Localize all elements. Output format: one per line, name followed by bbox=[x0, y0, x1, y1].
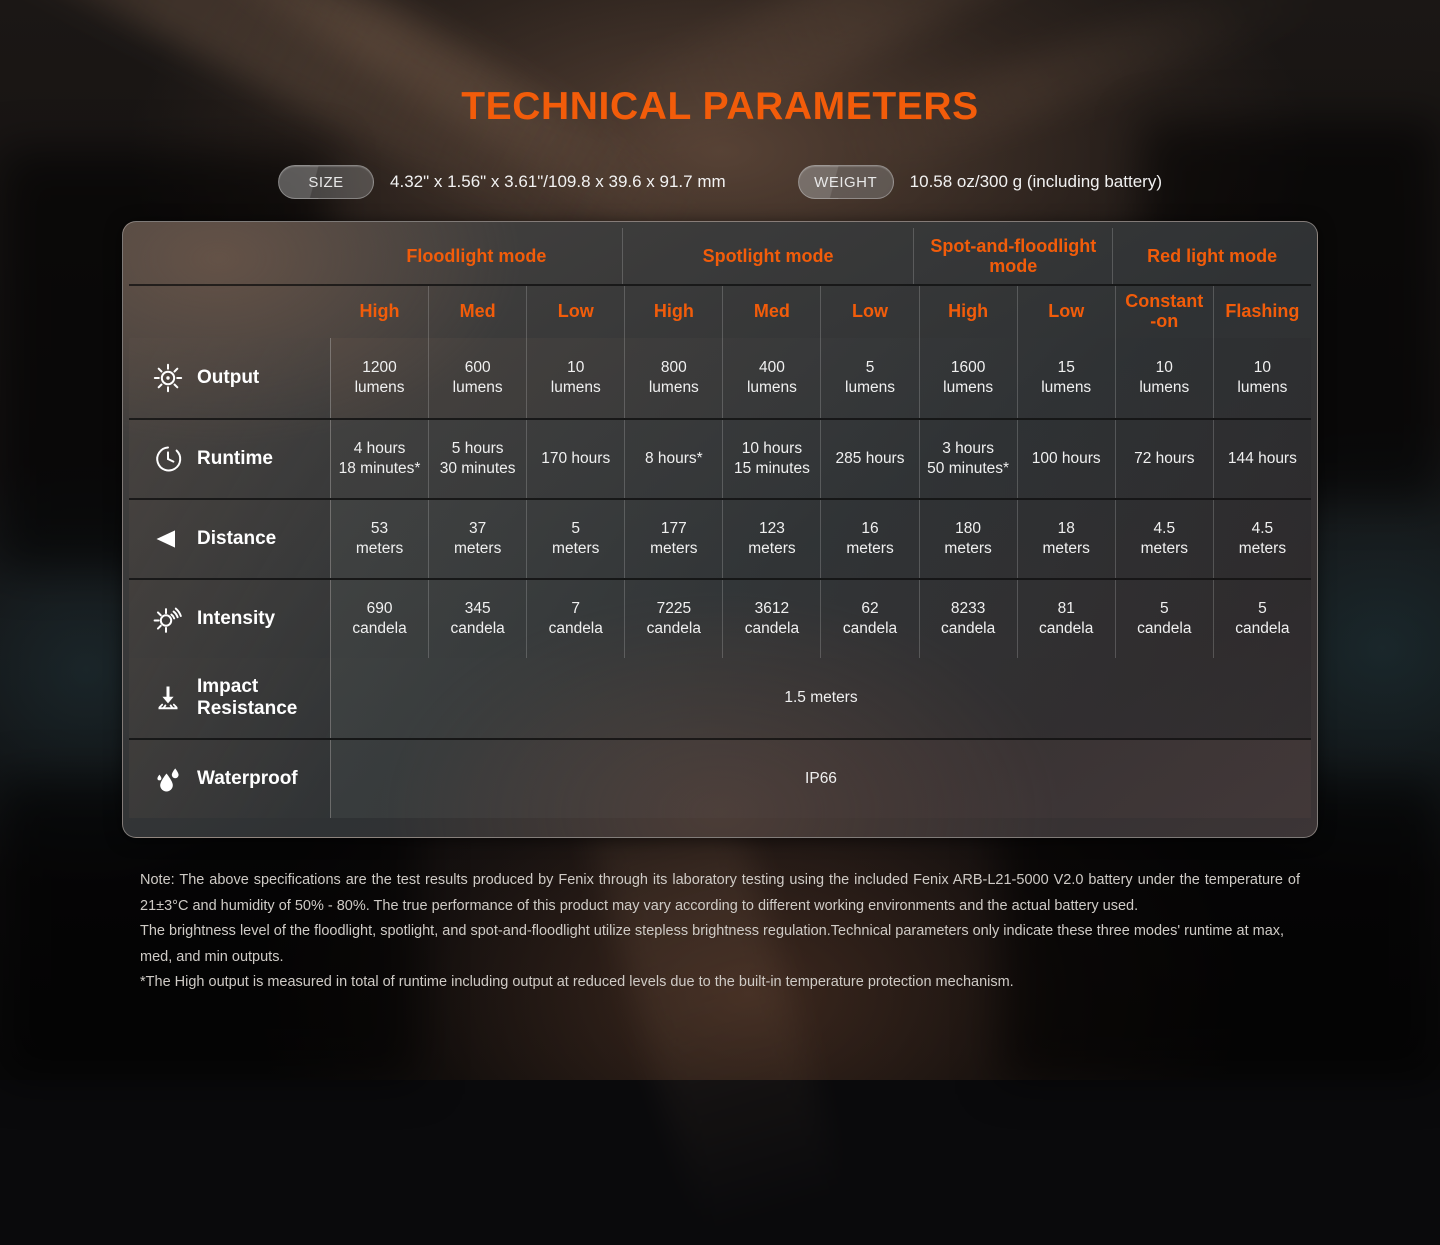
data-rows: Output1200lumens600lumens10lumens800lume… bbox=[129, 338, 1311, 658]
cell-value: 8233 bbox=[951, 599, 985, 619]
cell-value: 1600 bbox=[951, 358, 985, 378]
cell-unit: 15 minutes bbox=[734, 459, 810, 479]
cell-value: 10 bbox=[1254, 358, 1271, 378]
weight-badge: WEIGHT bbox=[798, 165, 894, 199]
weight-value: 10.58 oz/300 g (including battery) bbox=[910, 172, 1162, 192]
cell-value: 600 bbox=[465, 358, 491, 378]
cell-runtime-0: 4 hours18 minutes* bbox=[331, 420, 428, 498]
level-header-row: HighMedLowHighMedLowHighLowConstant-onFl… bbox=[129, 284, 1311, 338]
level-header-3: High bbox=[624, 286, 722, 338]
cell-unit: lumens bbox=[845, 378, 895, 398]
cell-unit: candela bbox=[941, 619, 995, 639]
cell-intensity-7: 81candela bbox=[1017, 580, 1115, 658]
notes-block: Note: The above specifications are the t… bbox=[140, 868, 1300, 996]
cell-distance-2: 5meters bbox=[526, 500, 624, 578]
cell-distance-9: 4.5meters bbox=[1213, 500, 1311, 578]
row-label-intensity: Intensity bbox=[129, 580, 331, 658]
page-title: TECHNICAL PARAMETERS bbox=[0, 85, 1440, 129]
cell-unit: 30 minutes bbox=[440, 459, 516, 479]
mode-header-3: Red light mode bbox=[1112, 228, 1311, 284]
cell-value: 400 bbox=[759, 358, 785, 378]
row-label-text: Runtime bbox=[197, 448, 273, 470]
table-row: Runtime4 hours18 minutes*5 hours30 minut… bbox=[129, 418, 1311, 498]
cell-value: 285 hours bbox=[836, 449, 905, 469]
cell-unit: candela bbox=[450, 619, 504, 639]
table-row: WaterproofIP66 bbox=[129, 738, 1311, 818]
cell-runtime-8: 72 hours bbox=[1115, 420, 1213, 498]
cell-value: 180 bbox=[955, 519, 981, 539]
cell-output-6: 1600lumens bbox=[919, 338, 1017, 418]
cell-runtime-5: 285 hours bbox=[820, 420, 918, 498]
row-label-text: Intensity bbox=[197, 608, 275, 630]
cell-distance-5: 16meters bbox=[820, 500, 918, 578]
level-header-8: Constant-on bbox=[1115, 286, 1213, 338]
cell-value: 7 bbox=[571, 599, 580, 619]
cell-unit: meters bbox=[944, 539, 991, 559]
cell-output-0: 1200lumens bbox=[331, 338, 428, 418]
cell-unit: lumens bbox=[1139, 378, 1189, 398]
cell-runtime-6: 3 hours50 minutes* bbox=[919, 420, 1017, 498]
size-value: 4.32" x 1.56" x 3.61"/109.8 x 39.6 x 91.… bbox=[390, 172, 726, 192]
cell-output-7: 15lumens bbox=[1017, 338, 1115, 418]
cell-runtime-2: 170 hours bbox=[526, 420, 624, 498]
cell-unit: lumens bbox=[453, 378, 503, 398]
cell-unit: meters bbox=[748, 539, 795, 559]
table-row: Output1200lumens600lumens10lumens800lume… bbox=[129, 338, 1311, 418]
cell-value: 5 bbox=[1258, 599, 1267, 619]
cell-unit: meters bbox=[356, 539, 403, 559]
cell-output-5: 5lumens bbox=[820, 338, 918, 418]
cell-unit: meters bbox=[552, 539, 599, 559]
row-label-text: Output bbox=[197, 367, 259, 389]
cell-value: 37 bbox=[469, 519, 486, 539]
row-cells: IP66 bbox=[331, 740, 1311, 818]
cell-value: 5 bbox=[866, 358, 875, 378]
cell-value: 3 hours bbox=[942, 439, 994, 459]
cell-value: 16 bbox=[861, 519, 878, 539]
cell-output-8: 10lumens bbox=[1115, 338, 1213, 418]
table-row: ImpactResistance1.5 meters bbox=[129, 658, 1311, 738]
level-header-0: High bbox=[331, 286, 428, 338]
cell-value: 62 bbox=[861, 599, 878, 619]
technical-parameters-table: Floodlight modeSpotlight modeSpot-and-fl… bbox=[122, 221, 1318, 838]
level-header-1: Med bbox=[428, 286, 526, 338]
cell-output-3: 800lumens bbox=[624, 338, 722, 418]
cell-value: 1200 bbox=[362, 358, 396, 378]
cell-unit: candela bbox=[843, 619, 897, 639]
row-label-text: ImpactResistance bbox=[197, 676, 297, 721]
beam-icon bbox=[151, 522, 185, 556]
cell-unit: lumens bbox=[551, 378, 601, 398]
cell-value: 123 bbox=[759, 519, 785, 539]
cell-runtime-4: 10 hours15 minutes bbox=[722, 420, 820, 498]
cell-value: 10 bbox=[1156, 358, 1173, 378]
note-paragraph-2: *The High output is measured in total of… bbox=[140, 970, 1300, 996]
row-cells: 53meters37meters5meters177meters123meter… bbox=[331, 500, 1311, 578]
cell-unit: lumens bbox=[355, 378, 405, 398]
cell-value: 345 bbox=[465, 599, 491, 619]
cell-intensity-6: 8233candela bbox=[919, 580, 1017, 658]
cell-unit: candela bbox=[352, 619, 406, 639]
cell-distance-6: 180meters bbox=[919, 500, 1017, 578]
cell-intensity-1: 345candela bbox=[428, 580, 526, 658]
cell-unit: meters bbox=[454, 539, 501, 559]
row-cells: 690candela345candela7candela7225candela3… bbox=[331, 580, 1311, 658]
cell-value: 4.5 bbox=[1252, 519, 1274, 539]
table-row: Intensity690candela345candela7candela722… bbox=[129, 578, 1311, 658]
level-header-4: Med bbox=[722, 286, 820, 338]
cell-value: 4.5 bbox=[1154, 519, 1176, 539]
note-paragraph-1: The brightness level of the floodlight, … bbox=[140, 919, 1300, 970]
weight-group: WEIGHT 10.58 oz/300 g (including battery… bbox=[798, 165, 1162, 199]
row-label-impact-resistance: ImpactResistance bbox=[129, 658, 331, 738]
level-header-9: Flashing bbox=[1213, 286, 1311, 338]
cell-unit: candela bbox=[1137, 619, 1191, 639]
cell-unit: lumens bbox=[649, 378, 699, 398]
cell-intensity-8: 5candela bbox=[1115, 580, 1213, 658]
cell-distance-3: 177meters bbox=[624, 500, 722, 578]
cell-unit: meters bbox=[846, 539, 893, 559]
cell-unit: candela bbox=[549, 619, 603, 639]
cell-unit: lumens bbox=[943, 378, 993, 398]
cell-runtime-7: 100 hours bbox=[1017, 420, 1115, 498]
waterdrop-icon bbox=[151, 762, 185, 796]
cell-unit: meters bbox=[1239, 539, 1286, 559]
cell-unit: meters bbox=[1043, 539, 1090, 559]
row-label-text: Waterproof bbox=[197, 768, 298, 790]
cell-unit: 50 minutes* bbox=[927, 459, 1009, 479]
cell-distance-0: 53meters bbox=[331, 500, 428, 578]
cell-runtime-3: 8 hours* bbox=[624, 420, 722, 498]
cell-value: 170 hours bbox=[541, 449, 610, 469]
cell-distance-7: 18meters bbox=[1017, 500, 1115, 578]
cell-unit: meters bbox=[1141, 539, 1188, 559]
intensity-icon bbox=[151, 602, 185, 636]
cell-intensity-0: 690candela bbox=[331, 580, 428, 658]
mode-header-2: Spot-and-floodlight mode bbox=[913, 228, 1112, 284]
level-header-cells: HighMedLowHighMedLowHighLowConstant-onFl… bbox=[331, 286, 1311, 338]
cell-output-1: 600lumens bbox=[428, 338, 526, 418]
row-cells: 1.5 meters bbox=[331, 658, 1311, 738]
cell-value: 53 bbox=[371, 519, 388, 539]
cell-value: 81 bbox=[1058, 599, 1075, 619]
cell-unit: lumens bbox=[1041, 378, 1091, 398]
cell-impact-resistance-value: 1.5 meters bbox=[331, 658, 1311, 738]
cell-intensity-2: 7candela bbox=[526, 580, 624, 658]
table-row: Distance53meters37meters5meters177meters… bbox=[129, 498, 1311, 578]
cell-intensity-9: 5candela bbox=[1213, 580, 1311, 658]
cell-unit: candela bbox=[1235, 619, 1289, 639]
mode-header-1: Spotlight mode bbox=[622, 228, 914, 284]
cell-value: 15 bbox=[1058, 358, 1075, 378]
cell-runtime-1: 5 hours30 minutes bbox=[428, 420, 526, 498]
cell-unit: candela bbox=[647, 619, 701, 639]
cell-distance-4: 123meters bbox=[722, 500, 820, 578]
note-paragraph-0: Note: The above specifications are the t… bbox=[140, 868, 1300, 919]
row-label-distance: Distance bbox=[129, 500, 331, 578]
spec-summary: SIZE 4.32" x 1.56" x 3.61"/109.8 x 39.6 … bbox=[0, 165, 1440, 199]
cell-unit: meters bbox=[650, 539, 697, 559]
cell-value: 4 hours bbox=[354, 439, 406, 459]
cell-value: 7225 bbox=[657, 599, 691, 619]
impact-icon bbox=[151, 681, 185, 715]
cell-value: 800 bbox=[661, 358, 687, 378]
cell-value: 177 bbox=[661, 519, 687, 539]
cell-value: 18 bbox=[1058, 519, 1075, 539]
cell-value: 10 bbox=[567, 358, 584, 378]
cell-unit: lumens bbox=[747, 378, 797, 398]
row-label-runtime: Runtime bbox=[129, 420, 331, 498]
cell-output-9: 10lumens bbox=[1213, 338, 1311, 418]
level-header-7: Low bbox=[1017, 286, 1115, 338]
row-label-waterproof: Waterproof bbox=[129, 740, 331, 818]
cell-unit: 18 minutes* bbox=[339, 459, 421, 479]
row-cells: 4 hours18 minutes*5 hours30 minutes170 h… bbox=[331, 420, 1311, 498]
cell-value: 5 bbox=[571, 519, 580, 539]
cell-value: 8 hours* bbox=[645, 449, 703, 469]
cell-distance-8: 4.5meters bbox=[1115, 500, 1213, 578]
cell-value: 144 hours bbox=[1228, 449, 1297, 469]
cell-unit: candela bbox=[745, 619, 799, 639]
size-group: SIZE 4.32" x 1.56" x 3.61"/109.8 x 39.6 … bbox=[278, 165, 726, 199]
cell-value: 5 hours bbox=[452, 439, 504, 459]
cell-runtime-9: 144 hours bbox=[1213, 420, 1311, 498]
level-header-6: High bbox=[919, 286, 1017, 338]
cell-intensity-3: 7225candela bbox=[624, 580, 722, 658]
row-label-output: Output bbox=[129, 338, 331, 418]
cell-output-4: 400lumens bbox=[722, 338, 820, 418]
cell-value: 690 bbox=[367, 599, 393, 619]
cell-waterproof-value: IP66 bbox=[331, 740, 1311, 818]
cell-output-2: 10lumens bbox=[526, 338, 624, 418]
cell-unit: candela bbox=[1039, 619, 1093, 639]
cell-value: 72 hours bbox=[1134, 449, 1194, 469]
row-cells: 1200lumens600lumens10lumens800lumens400l… bbox=[331, 338, 1311, 418]
sun-icon bbox=[151, 361, 185, 395]
cell-value: 100 hours bbox=[1032, 449, 1101, 469]
mode-header-0: Floodlight mode bbox=[331, 228, 622, 284]
mode-header-corner bbox=[129, 228, 331, 284]
mode-header-row: Floodlight modeSpotlight modeSpot-and-fl… bbox=[129, 228, 1311, 284]
size-badge: SIZE bbox=[278, 165, 374, 199]
cell-intensity-5: 62candela bbox=[820, 580, 918, 658]
level-header-5: Low bbox=[820, 286, 918, 338]
merged-rows: ImpactResistance1.5 metersWaterproofIP66 bbox=[129, 658, 1311, 818]
cell-value: 10 hours bbox=[742, 439, 802, 459]
cell-value: 5 bbox=[1160, 599, 1169, 619]
cell-distance-1: 37meters bbox=[428, 500, 526, 578]
cell-value: 3612 bbox=[755, 599, 789, 619]
cell-intensity-4: 3612candela bbox=[722, 580, 820, 658]
clock-icon bbox=[151, 442, 185, 476]
cell-unit: lumens bbox=[1237, 378, 1287, 398]
level-header-corner bbox=[129, 286, 331, 338]
row-label-text: Distance bbox=[197, 528, 276, 550]
mode-header-cells: Floodlight modeSpotlight modeSpot-and-fl… bbox=[331, 228, 1311, 284]
level-header-2: Low bbox=[526, 286, 624, 338]
